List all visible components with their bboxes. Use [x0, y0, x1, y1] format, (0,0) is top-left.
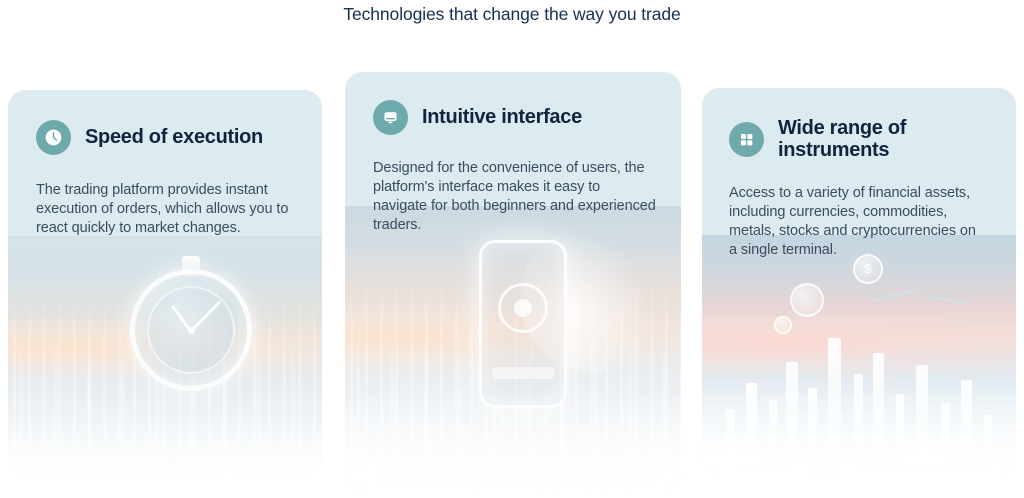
card-header-row: Speed of execution [36, 120, 296, 155]
card-content: Speed of execution The trading platform … [8, 90, 322, 238]
feature-card-wide-range-of-instruments[interactable]: $ [702, 88, 1016, 474]
card-body-text: Access to a variety of financial assets,… [729, 184, 977, 261]
grid-icon [729, 122, 764, 157]
watch-illustration [130, 269, 252, 391]
card-artwork-pocket-watch [8, 236, 322, 474]
watch-crown [182, 256, 200, 276]
card-body-text: The trading platform provides instant ex… [36, 181, 298, 238]
card-title: Wide range of instruments [778, 117, 928, 162]
feature-card-speed-of-execution[interactable]: Speed of execution The trading platform … [8, 90, 322, 474]
card-body-text: Designed for the convenience of users, t… [373, 159, 657, 236]
card-title: Speed of execution [85, 126, 263, 148]
phone-illustration [479, 240, 567, 408]
card-artwork-skyline: $ [702, 235, 1016, 474]
phone-screen-bar [492, 367, 554, 379]
monitor-icon [373, 100, 408, 135]
card-header-row: Wide range of instruments [729, 117, 992, 162]
clock-icon [36, 120, 71, 155]
phone-screen-ring [498, 283, 548, 333]
card-content: Intuitive interface Designed for the con… [345, 72, 681, 236]
section-heading: Technologies that change the way you tra… [0, 4, 1024, 25]
artwork-clouds [345, 388, 681, 490]
features-section: Technologies that change the way you tra… [0, 0, 1024, 498]
watch-minute-hand [190, 300, 221, 332]
card-content: Wide range of instruments Access to a va… [702, 88, 1016, 260]
card-title: Intuitive interface [422, 106, 582, 128]
watch-center-pin [188, 327, 195, 334]
card-artwork-smartphone [345, 206, 681, 490]
artwork-clouds [8, 412, 322, 474]
artwork-clouds [702, 378, 1016, 474]
card-header-row: Intuitive interface [373, 100, 655, 135]
feature-card-intuitive-interface[interactable]: Intuitive interface Designed for the con… [345, 72, 681, 490]
